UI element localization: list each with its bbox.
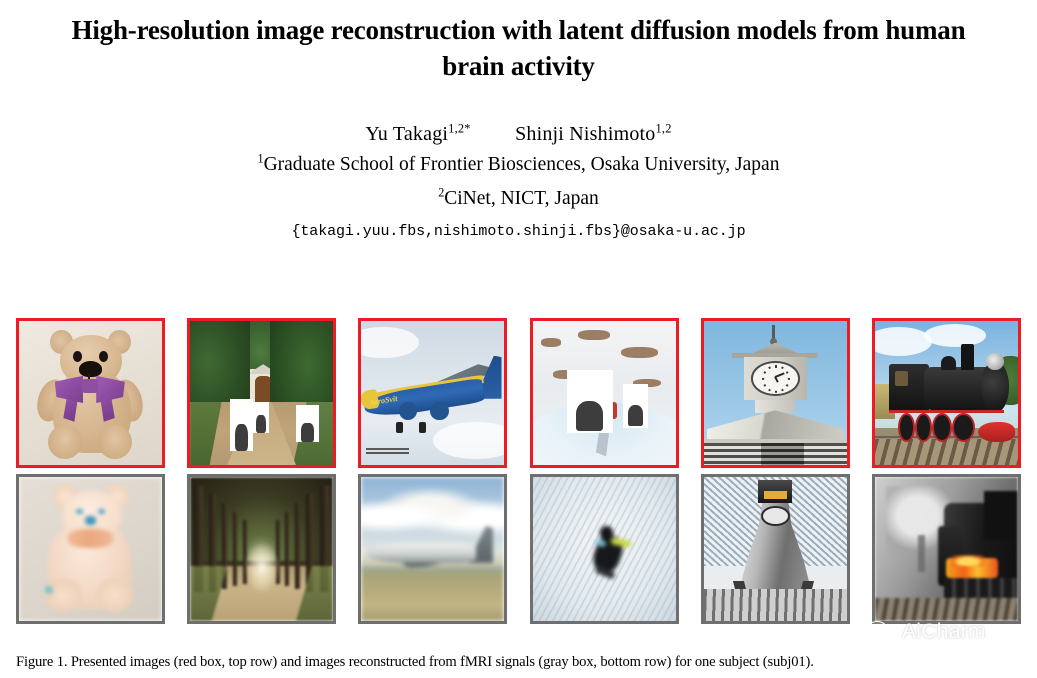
clock-tick [775,365,777,367]
person-mask-box-1 [230,399,253,451]
recon-clouds [361,486,504,538]
clock-minute-hand [774,377,779,383]
presented-clock-tower-cell [701,318,850,468]
recon-field [361,569,504,621]
affiliation-1-text: Graduate School of Frontier Biosciences,… [264,154,780,175]
presented-teddy-bear-cell [16,318,165,468]
presented-airplane-cell: AeroSvit [358,318,507,468]
path-building-door [255,376,272,403]
person-mask-box-2 [623,384,649,427]
cloud-2 [924,324,987,347]
recon-locomotive-cab [984,491,1018,540]
wechat-bubble-dot-2 [878,625,881,628]
person-silhouette-icon [628,405,643,426]
person-mask-box-3 [296,405,319,442]
reconstructed-clock-tower-cell [701,474,850,624]
reconstructed-tree-path-image [190,477,333,621]
locomotive-wheel-4 [952,413,975,442]
clock-tick [781,388,784,391]
track-sleepers [875,439,1018,465]
reconstructed-steam-train-cell [872,474,1021,624]
contact-email: {takagi.yuu.fbs,nishimoto.shinji.fbs}@os… [40,219,997,245]
photo-credit-watermark [366,448,409,457]
author-2: Shinji Nishimoto1,2 [515,123,672,145]
reconstructed-snow-scene-image [533,477,676,621]
recon-tower-amber-accent [764,491,787,498]
locomotive-cowcatcher [978,422,1015,442]
clock-tick [785,384,788,387]
bow-knot [82,379,98,393]
reconstructed-snow-scene-cell [530,474,679,624]
clock-tick [785,371,788,374]
recon-fence-line [361,566,504,572]
presented-airplane-image: AeroSvit [361,321,504,465]
affiliation-2-text: CiNet, NICT, Japan [444,188,599,209]
presented-teddy-bear-image [19,321,162,465]
locomotive-wheel-2 [915,413,932,442]
author-1-superscript: 1,2* [448,121,470,135]
locomotive-cab-window [895,371,908,385]
wechat-bubble-dot-1 [871,625,874,628]
affiliation-1: 1Graduate School of Frontier Biosciences… [40,148,997,182]
clock-tick [775,390,777,392]
reconstructed-teddy-bear-image [19,477,162,621]
author-block: Yu Takagi1,2* Shinji Nishimoto1,2 1Gradu… [40,120,997,245]
page-title: High-resolution image reconstruction wit… [40,12,997,84]
reconstructed-steam-train-image [875,477,1018,621]
recon-bear-leg-right [96,578,133,613]
airplane-landing-gear-2 [419,422,426,434]
bear-leg-right [98,425,132,460]
bear-leg-left [48,425,82,460]
presented-images-row: AeroSvit [16,318,1021,468]
figure-caption: Figure 1. Presented images (red box, top… [16,652,1026,672]
airplane-landing-gear-1 [396,422,403,434]
recon-tower-base [704,589,847,621]
bear-eye-left [73,351,82,362]
author-2-superscript: 1,2 [656,121,672,135]
cloud-1 [875,327,932,356]
reconstructed-airplane-cell [358,474,507,624]
airplane-engine-2 [430,402,449,421]
reconstructed-images-row [16,474,1021,624]
recon-firebox-core [952,555,983,567]
locomotive-smokestack [961,344,974,370]
recon-trunk-r3 [295,503,301,589]
recon-bear-nose [85,516,96,525]
presented-clock-tower-image [704,321,847,465]
author-1: Yu Takagi1,2* [365,123,470,145]
building-roof [707,410,844,442]
person-silhouette-icon [576,401,603,430]
snow-rock-3 [621,347,658,359]
figure-grid: AeroSvit [16,318,1021,624]
presented-steam-train-cell [872,318,1021,468]
person-silhouette-icon [235,424,247,451]
person-silhouette-icon [301,423,314,442]
locomotive-wheel-1 [898,413,915,442]
recon-vanishing-point-light [245,543,279,592]
clock-tick [781,367,784,370]
cloud-1 [361,327,418,359]
person-silhouette-icon [256,415,265,433]
clock-tick [768,388,771,391]
recon-bear-artifact [45,586,54,593]
recon-bear-bow [68,529,114,548]
wechat-bubble-small [878,627,896,642]
locomotive-steam-dome [941,356,957,370]
author-names: Yu Takagi1,2* Shinji Nishimoto1,2 [40,120,997,148]
reconstructed-tree-path-cell [187,474,336,624]
recon-airplane-fuselage [367,543,476,563]
cloud-2 [433,422,505,459]
clock-tick [763,384,766,387]
recon-clock-face [761,506,790,526]
presented-snow-scene-cell [530,318,679,468]
person-mask-box-1 [567,370,613,433]
presented-tree-path-cell [187,318,336,468]
snow-rock-1 [541,338,561,347]
presented-tree-path-image [190,321,333,465]
affiliation-2: 2CiNet, NICT, Japan [40,182,997,216]
building-louvers-shaded [761,443,804,465]
recon-track-ground [875,598,1018,621]
presented-snow-scene-image [533,321,676,465]
person-mask-box-2 [253,402,269,434]
clock-tick [762,378,764,380]
recon-bear-leg-left [45,578,82,613]
bear-eye-right [99,351,108,362]
reconstructed-airplane-image [361,477,504,621]
recon-post [918,535,925,572]
reconstructed-clock-tower-image [704,477,847,621]
snow-rock-2 [578,330,609,340]
clock-face [751,361,800,396]
reconstructed-teddy-bear-cell [16,474,165,624]
clock-tick [787,378,789,380]
airplane-engine-1 [399,402,418,421]
bear-snout [79,361,102,377]
recon-trunk-l4 [233,512,237,587]
recon-trunk-r4 [285,512,289,587]
clock-tick [768,367,771,370]
presented-steam-train-image [875,321,1018,465]
locomotive-headlamp [986,353,1003,370]
locomotive-wheel-3 [932,413,952,442]
clock-tick [763,371,766,374]
